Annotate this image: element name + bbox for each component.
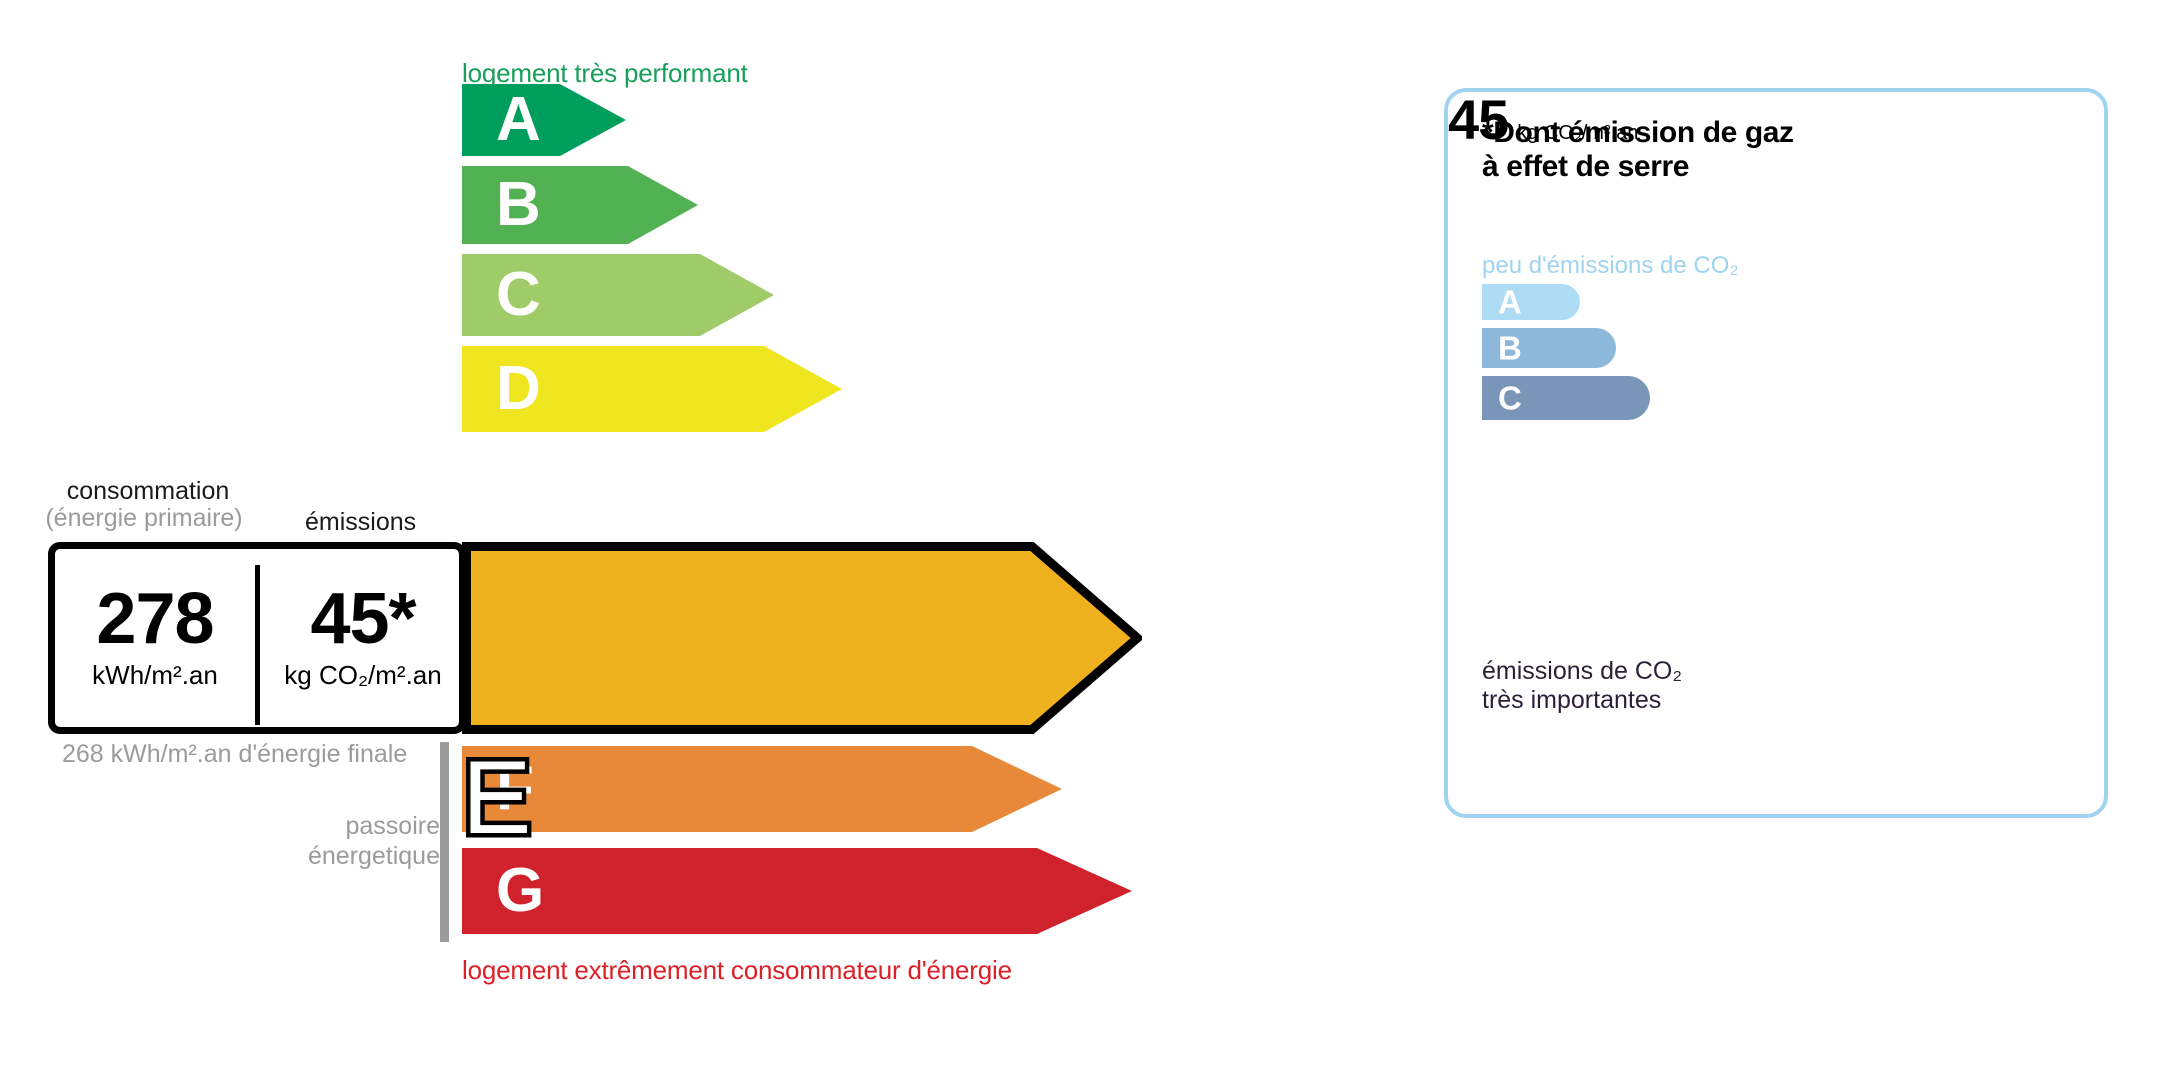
energy-band-b: B <box>462 166 698 244</box>
emissions-label: émissions <box>305 508 416 537</box>
ghg-band-b: B <box>1482 328 1616 368</box>
passoire-note: passoire énergetique <box>250 812 440 871</box>
ghg-emission-panel: *Dont émission de gaz à effet de serre p… <box>1444 88 2108 818</box>
ghg-band-letter: B <box>1498 332 1522 365</box>
ghg-unit: kg CO₂/m².an <box>1517 122 1638 145</box>
passoire-bracket <box>440 742 449 942</box>
energy-performance-diagram: logement très performant ABCDFG E consom… <box>0 0 1330 1079</box>
consumption-label-main: consommation <box>67 477 230 505</box>
ghg-value-callout: 45 kg CO₂/m².an <box>1448 92 1638 148</box>
energy-band-letter: D <box>496 358 541 420</box>
ghg-band-a: A <box>1482 284 1580 320</box>
ghg-band-letter: A <box>1498 286 1522 319</box>
energy-band-letter: G <box>496 860 544 922</box>
co2-emission-unit: kg CO₂/m².an <box>284 660 441 691</box>
energy-active-arrow <box>462 542 1142 739</box>
ghg-top-caption: peu d'émissions de CO₂ <box>1482 252 1739 280</box>
energy-active-letter: E <box>462 739 1142 858</box>
energy-band-letter: A <box>496 89 541 151</box>
energy-bottom-caption: logement extrêmement consommateur d'éner… <box>462 955 1012 986</box>
ghg-band-c: C <box>1482 376 1650 420</box>
co2-emission-cell: 45* kg CO₂/m².an <box>260 549 466 727</box>
energy-band-c: C <box>462 254 774 336</box>
energy-band-letter: C <box>496 264 541 326</box>
co2-emission-value: 45* <box>310 585 415 653</box>
energy-band-a: A <box>462 84 626 156</box>
primary-energy-cell: 278 kWh/m².an <box>55 549 255 727</box>
ghg-value: 45 <box>1448 92 1508 148</box>
energy-band-arrow <box>462 84 626 156</box>
value-box: 278 kWh/m².an 45* kg CO₂/m².an <box>48 542 466 734</box>
energy-active-band: E <box>462 542 1142 734</box>
primary-energy-value: 278 <box>96 585 213 653</box>
final-energy-note: 268 kWh/m².an d'énergie finale <box>62 740 407 770</box>
energy-band-letter: B <box>496 174 541 236</box>
ghg-band-letter: C <box>1498 382 1522 415</box>
energy-band-d: D <box>462 346 842 432</box>
energy-band-g: G <box>462 848 1132 934</box>
consumption-label-sub: (énergie primaire) <box>40 505 248 532</box>
primary-energy-unit: kWh/m².an <box>92 660 218 691</box>
consumption-label: consommation (énergie primaire) <box>48 478 248 532</box>
ghg-bottom-caption: émissions de CO₂ très importantes <box>1482 657 1682 715</box>
energy-band-arrow <box>462 848 1132 934</box>
